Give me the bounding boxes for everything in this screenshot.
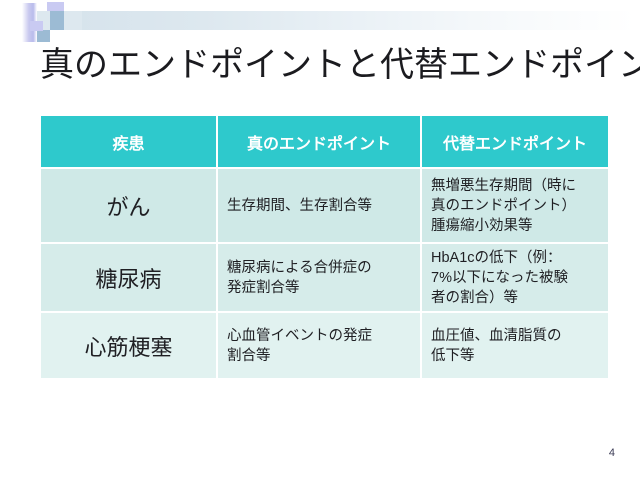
cell-line: 生存期間、生存割合等 bbox=[227, 196, 413, 216]
cell-surrogate-endpoint: 血圧値、血清脂質の 低下等 bbox=[422, 313, 608, 378]
column-header-surrogate-endpoint: 代替エンドポイント bbox=[422, 116, 608, 167]
table-row: 糖尿病 糖尿病による合併症の 発症割合等 HbA1cの低下（例： 7%以下になっ… bbox=[41, 244, 608, 311]
cell-line: 者の割合）等 bbox=[431, 288, 601, 308]
cell-true-endpoint: 心血管イベントの発症 割合等 bbox=[218, 313, 422, 378]
decoration-square-lavender-4 bbox=[30, 21, 43, 31]
cell-surrogate-endpoint: 無増悪生存期間（時に 真のエンドポイント） 腫瘍縮小効果等 bbox=[422, 169, 608, 242]
cell-line: HbA1cの低下（例： bbox=[431, 248, 601, 268]
cell-line: 7%以下になった被験 bbox=[431, 268, 601, 288]
cell-line: 真のエンドポイント） bbox=[431, 196, 601, 216]
cell-line: 糖尿病による合併症の bbox=[227, 258, 413, 278]
decoration-gradient-band bbox=[60, 11, 635, 30]
page-title: 真のエンドポイントと代替エンドポイント bbox=[40, 43, 620, 87]
cell-line: 無増悪生存期間（時に bbox=[431, 176, 601, 196]
decoration-square-lavender-3 bbox=[50, 2, 64, 11]
endpoints-table: 疾患 真のエンドポイント 代替エンドポイント がん 生存期間、生存割合等 無増悪… bbox=[41, 116, 608, 380]
cell-line: 腫瘍縮小効果等 bbox=[431, 216, 601, 236]
cell-true-endpoint: 糖尿病による合併症の 発症割合等 bbox=[218, 244, 422, 311]
column-header-disease: 疾患 bbox=[41, 116, 218, 167]
cell-disease: がん bbox=[41, 169, 218, 242]
cell-line: 血圧値、血清脂質の bbox=[431, 326, 601, 346]
cell-line: 心血管イベントの発症 bbox=[227, 326, 413, 346]
table-row: がん 生存期間、生存割合等 無増悪生存期間（時に 真のエンドポイント） 腫瘍縮小… bbox=[41, 169, 608, 242]
cell-line: 発症割合等 bbox=[227, 278, 413, 298]
slide-decoration bbox=[0, 0, 640, 44]
cell-line: 割合等 bbox=[227, 346, 413, 366]
table-header-row: 疾患 真のエンドポイント 代替エンドポイント bbox=[41, 116, 608, 167]
cell-disease: 糖尿病 bbox=[41, 244, 218, 311]
cell-true-endpoint: 生存期間、生存割合等 bbox=[218, 169, 422, 242]
decoration-square-steel-1 bbox=[50, 11, 64, 30]
decoration-square-steel-2 bbox=[37, 30, 50, 42]
cell-disease: 心筋梗塞 bbox=[41, 313, 218, 378]
cell-line: 低下等 bbox=[431, 346, 601, 366]
page-number: 4 bbox=[609, 447, 615, 459]
table-row: 心筋梗塞 心血管イベントの発症 割合等 血圧値、血清脂質の 低下等 bbox=[41, 313, 608, 378]
decoration-square-pale-2 bbox=[64, 11, 82, 30]
column-header-true-endpoint: 真のエンドポイント bbox=[218, 116, 422, 167]
cell-surrogate-endpoint: HbA1cの低下（例： 7%以下になった被験 者の割合）等 bbox=[422, 244, 608, 311]
